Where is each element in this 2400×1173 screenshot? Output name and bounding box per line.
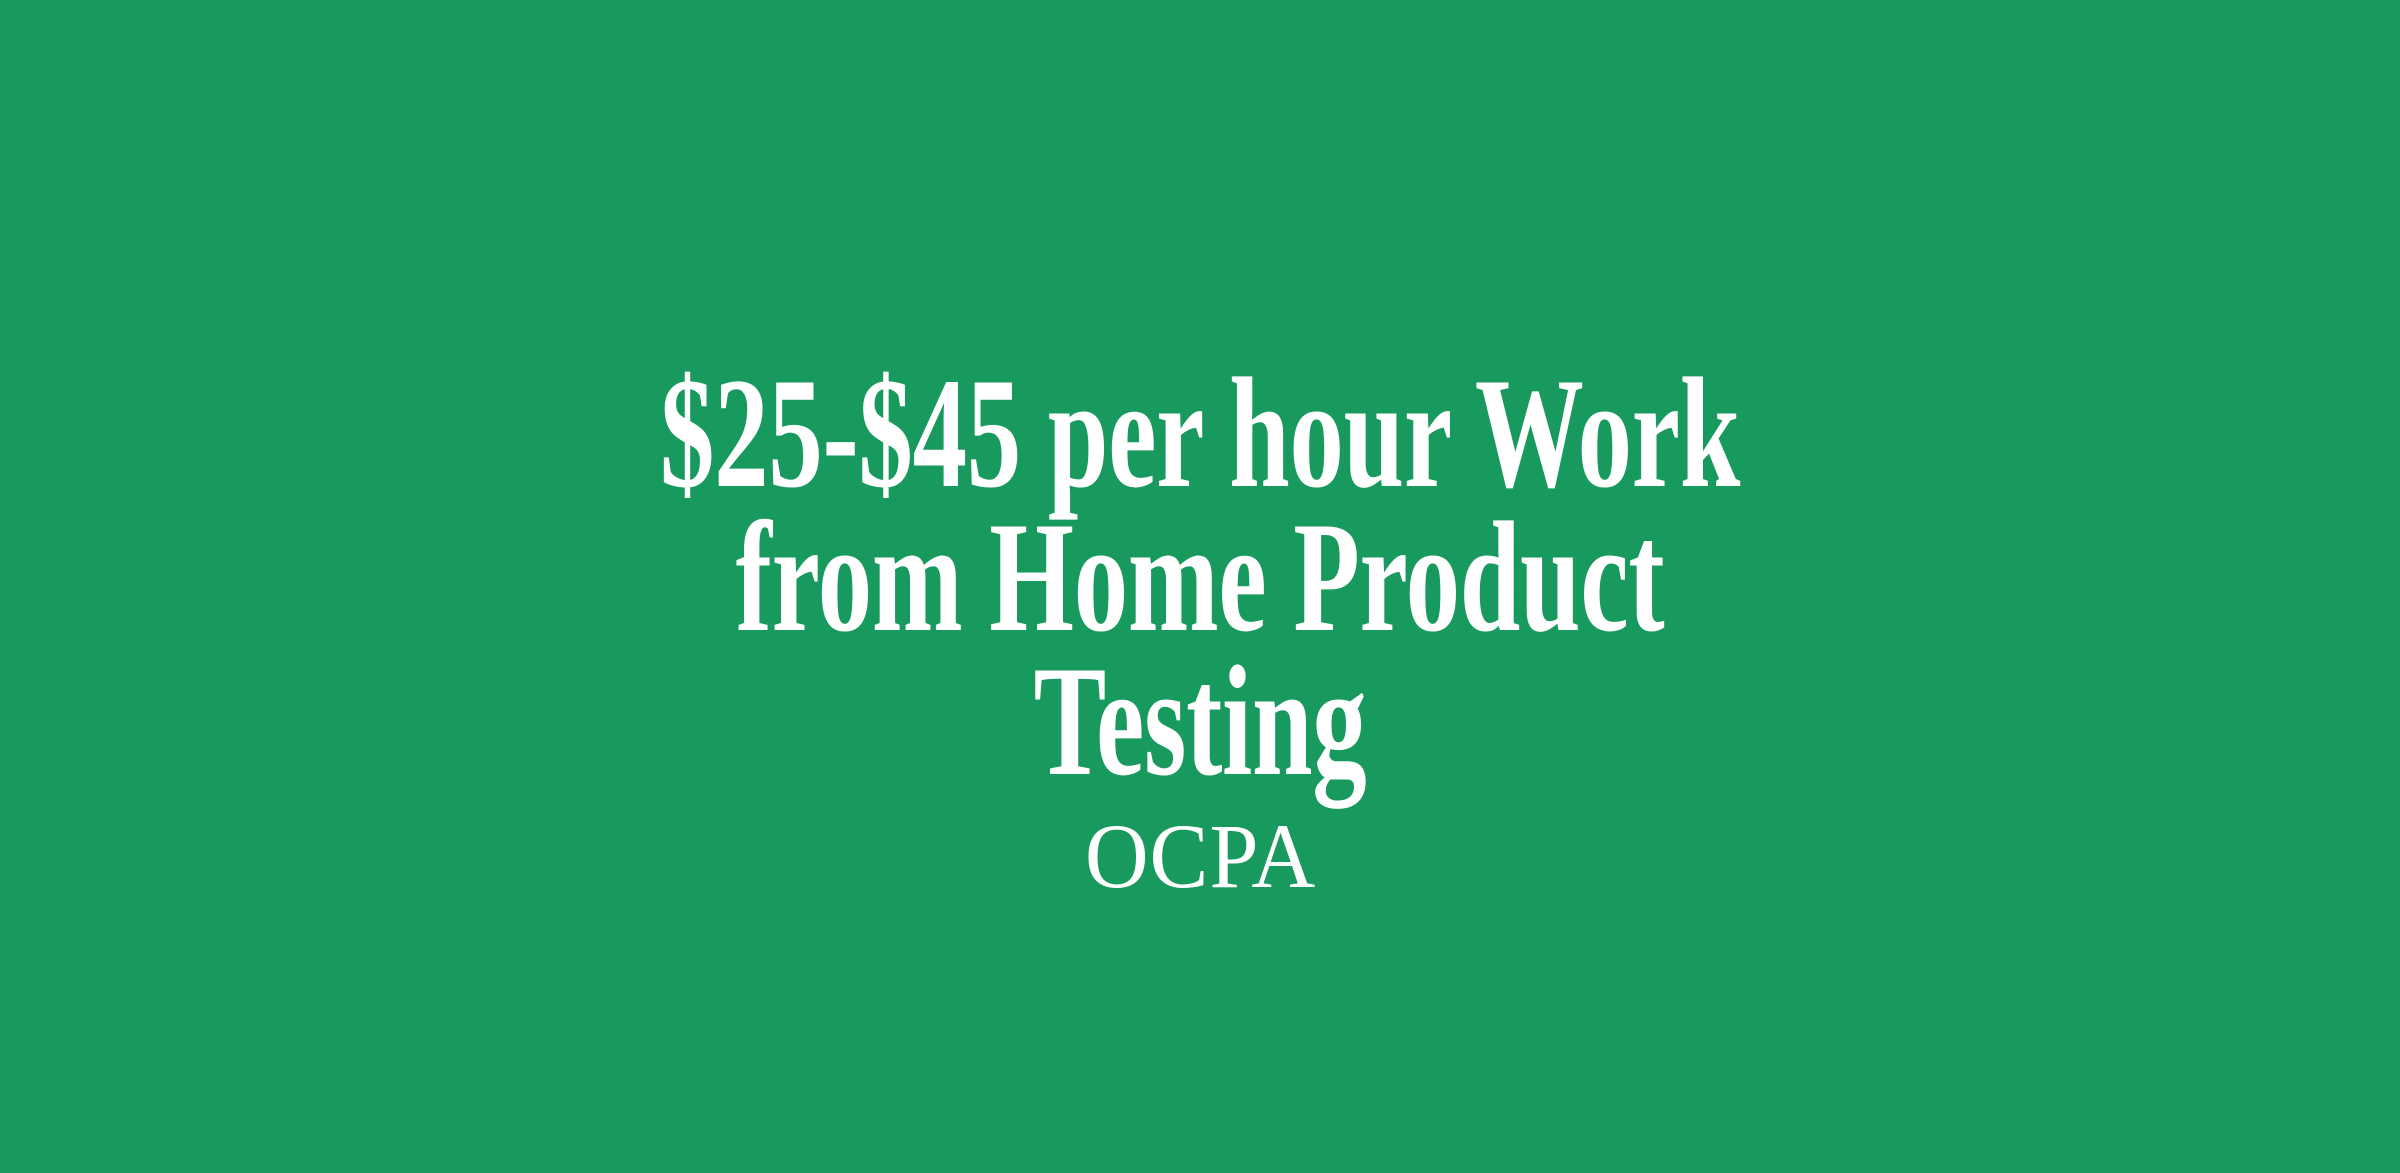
- card-title: $25-$45 per hour Work from Home Product …: [593, 362, 1807, 794]
- card-text-block: $25-$45 per hour Work from Home Product …: [0, 362, 2400, 904]
- social-share-card: $25-$45 per hour Work from Home Product …: [0, 0, 2400, 1173]
- card-subtitle: OCPA: [1084, 808, 1315, 904]
